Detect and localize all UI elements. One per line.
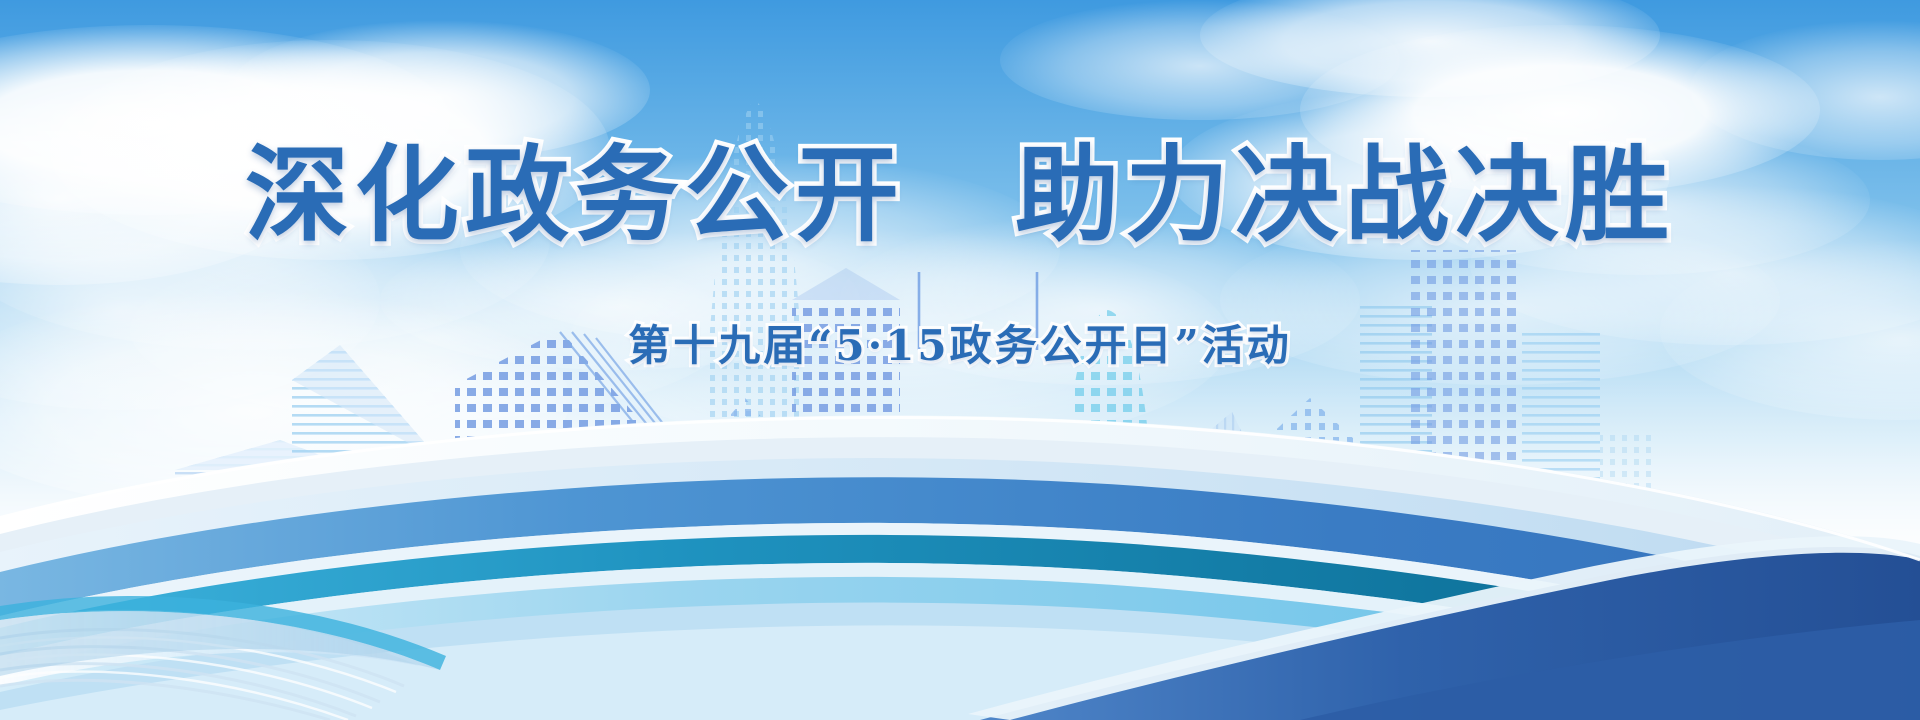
sub-title: 第十九届“5·15政务公开日”活动 <box>0 312 1920 373</box>
text-layer: 深化政务公开 助力决战决胜 第十九届“5·15政务公开日”活动 <box>0 0 1920 720</box>
banner-root: 深化政务公开 助力决战决胜 第十九届“5·15政务公开日”活动 <box>0 0 1920 720</box>
main-title: 深化政务公开 助力决战决胜 <box>0 140 1920 250</box>
